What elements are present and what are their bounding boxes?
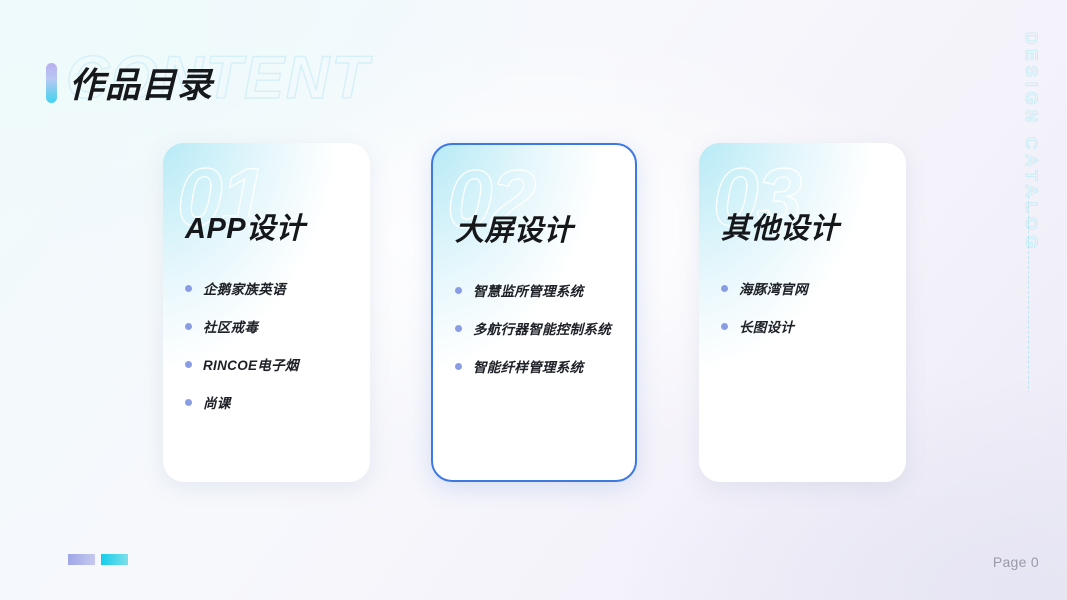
page-number: Page 0 (993, 554, 1039, 570)
vertical-side-label: DESIGN CATALOG (1021, 32, 1041, 253)
list-item[interactable]: 社区戒毒 (185, 316, 360, 336)
card-item-list: 智慧监所管理系统 多航行器智能控制系统 智能纤样管理系统 (455, 280, 625, 394)
list-item-label: 多航行器智能控制系统 (473, 318, 611, 338)
list-item[interactable]: 海豚湾官网 (721, 278, 896, 298)
header-title-row: 作品目录 (46, 57, 213, 108)
bullet-dot-icon (185, 399, 192, 406)
card-title: 大屏设计 (455, 207, 573, 249)
list-item-label: 智慧监所管理系统 (473, 280, 583, 300)
bullet-dot-icon (185, 361, 192, 368)
accent-bar-icon (46, 63, 57, 103)
list-item[interactable]: RINCOE电子烟 (185, 354, 360, 374)
card-item-list: 海豚湾官网 长图设计 (721, 278, 896, 354)
list-item[interactable]: 智慧监所管理系统 (455, 280, 625, 300)
bullet-dot-icon (185, 323, 192, 330)
category-card-3[interactable]: 03 其他设计 海豚湾官网 长图设计 (699, 143, 906, 482)
bullet-dot-icon (455, 363, 462, 370)
vertical-dotted-line (1028, 196, 1029, 392)
bullet-dot-icon (185, 285, 192, 292)
footer-decorative-bars (68, 554, 128, 565)
slide-canvas: CONTENT 作品目录 DESIGN CATALOG 01 APP设计 企鹅家… (0, 0, 1067, 600)
page-title: 作品目录 (69, 57, 213, 108)
list-item[interactable]: 长图设计 (721, 316, 896, 336)
list-item[interactable]: 智能纤样管理系统 (455, 356, 625, 376)
bullet-dot-icon (721, 285, 728, 292)
list-item-label: 尚课 (203, 392, 231, 412)
list-item-label: RINCOE电子烟 (203, 354, 299, 374)
list-item[interactable]: 多航行器智能控制系统 (455, 318, 625, 338)
card-group: 01 APP设计 企鹅家族英语 社区戒毒 RINCOE电子烟 尚课 (163, 143, 904, 482)
bullet-dot-icon (455, 287, 462, 294)
list-item[interactable]: 尚课 (185, 392, 360, 412)
list-item-label: 企鹅家族英语 (203, 278, 286, 298)
bullet-dot-icon (455, 325, 462, 332)
footer-bar-cyan (101, 554, 128, 565)
list-item-label: 长图设计 (739, 316, 794, 336)
card-title: APP设计 (185, 205, 305, 247)
list-item[interactable]: 企鹅家族英语 (185, 278, 360, 298)
list-item-label: 智能纤样管理系统 (473, 356, 583, 376)
category-card-2[interactable]: 02 大屏设计 智慧监所管理系统 多航行器智能控制系统 智能纤样管理系统 (431, 143, 637, 482)
bullet-dot-icon (721, 323, 728, 330)
footer-bar-purple (68, 554, 95, 565)
list-item-label: 社区戒毒 (203, 316, 258, 336)
category-card-1[interactable]: 01 APP设计 企鹅家族英语 社区戒毒 RINCOE电子烟 尚课 (163, 143, 370, 482)
card-title: 其他设计 (721, 205, 839, 247)
list-item-label: 海豚湾官网 (739, 278, 808, 298)
card-item-list: 企鹅家族英语 社区戒毒 RINCOE电子烟 尚课 (185, 278, 360, 430)
